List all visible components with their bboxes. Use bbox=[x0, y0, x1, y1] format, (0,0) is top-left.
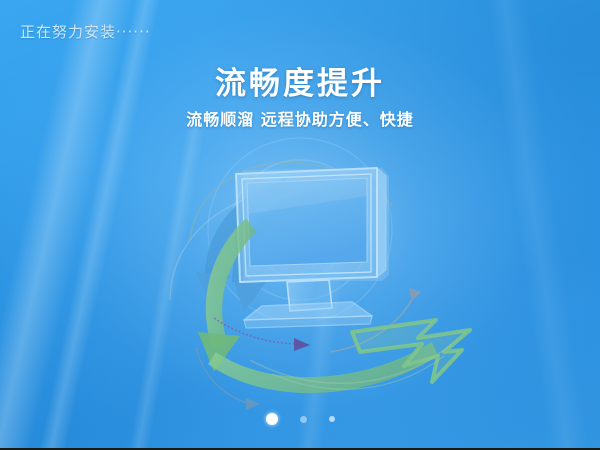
installer-slideshow-window: 正在努力安装······ 流畅度提升 流畅顺溜 远程协助方便、快捷 bbox=[0, 0, 600, 450]
slide-subheadline: 流畅顺溜 远程协助方便、快捷 bbox=[0, 106, 600, 130]
pager-dot-3[interactable] bbox=[329, 416, 335, 422]
pager-dot-2[interactable] bbox=[300, 416, 307, 423]
pager-dot-1[interactable] bbox=[266, 413, 278, 425]
slideshow-pager bbox=[0, 410, 600, 428]
slide-headline: 流畅度提升 bbox=[0, 58, 600, 103]
install-status-text: 正在努力安装······ bbox=[20, 21, 151, 42]
